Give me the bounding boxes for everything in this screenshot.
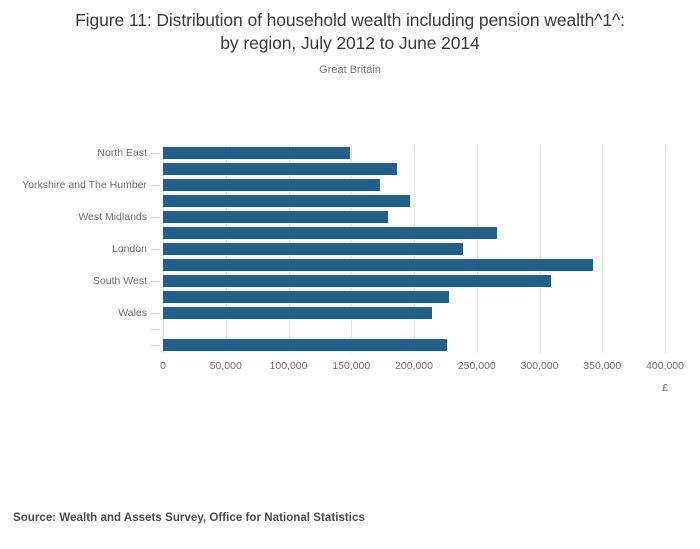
x-axis-tick-label: 200,000 bbox=[395, 361, 433, 372]
y-tick-mark bbox=[151, 185, 160, 186]
y-tick-row: North East bbox=[0, 145, 163, 161]
bar-row bbox=[163, 145, 665, 161]
bar-row bbox=[163, 209, 665, 225]
y-tick-row: Wales bbox=[0, 305, 163, 321]
y-tick-row bbox=[0, 161, 163, 177]
y-tick-mark bbox=[151, 297, 160, 298]
y-axis-label: West Midlands bbox=[78, 212, 151, 223]
bar[interactable] bbox=[163, 243, 463, 255]
bar-row bbox=[163, 305, 665, 321]
gridline bbox=[665, 145, 666, 353]
x-axis-tick-label: 300,000 bbox=[521, 361, 559, 372]
bar[interactable] bbox=[163, 179, 380, 191]
bar-row bbox=[163, 161, 665, 177]
bar[interactable] bbox=[163, 339, 447, 351]
y-axis-label: Wales bbox=[118, 308, 151, 319]
x-axis-tick-label: 100,000 bbox=[270, 361, 308, 372]
bar-row bbox=[163, 177, 665, 193]
y-tick-mark bbox=[151, 233, 160, 234]
bar-row bbox=[163, 193, 665, 209]
bar-row bbox=[163, 257, 665, 273]
bar-row bbox=[163, 289, 665, 305]
y-tick-row bbox=[0, 193, 163, 209]
x-axis-tick-label: 150,000 bbox=[332, 361, 370, 372]
y-tick-row: West Midlands bbox=[0, 209, 163, 225]
y-tick-row bbox=[0, 321, 163, 337]
bar[interactable] bbox=[163, 163, 397, 175]
y-tick-row bbox=[0, 257, 163, 273]
bar[interactable] bbox=[163, 291, 449, 303]
bar[interactable] bbox=[163, 307, 432, 319]
y-axis-label: North East bbox=[97, 148, 151, 159]
x-axis-tick-label: 350,000 bbox=[583, 361, 621, 372]
y-axis-label: Yorkshire and The Humber bbox=[22, 180, 151, 191]
y-tick-row: South West bbox=[0, 273, 163, 289]
x-axis-title: £ bbox=[662, 383, 668, 394]
y-tick-mark bbox=[151, 265, 160, 266]
y-tick-mark bbox=[151, 153, 160, 154]
bar[interactable] bbox=[163, 211, 388, 223]
x-axis-tick-label: 250,000 bbox=[458, 361, 496, 372]
bar[interactable] bbox=[163, 259, 593, 271]
source-note: Source: Wealth and Assets Survey, Office… bbox=[13, 512, 365, 524]
y-tick-mark bbox=[151, 329, 160, 330]
y-tick-row: London bbox=[0, 241, 163, 257]
bar-row bbox=[163, 241, 665, 257]
y-tick-row bbox=[0, 337, 163, 353]
y-tick-mark bbox=[151, 281, 160, 282]
bar[interactable] bbox=[163, 195, 410, 207]
y-tick-row bbox=[0, 289, 163, 305]
y-tick-row: Yorkshire and The Humber bbox=[0, 177, 163, 193]
y-tick-mark bbox=[151, 345, 160, 346]
x-axis-tick-label: 0 bbox=[160, 361, 166, 372]
y-tick-mark bbox=[151, 313, 160, 314]
bar[interactable] bbox=[163, 275, 551, 287]
bar-row bbox=[163, 321, 665, 337]
bar[interactable] bbox=[163, 227, 497, 239]
plot-area bbox=[163, 145, 665, 353]
x-axis-tick-label: 50,000 bbox=[210, 361, 242, 372]
x-axis-tick-label: 400,000 bbox=[646, 361, 684, 372]
bar-row bbox=[163, 273, 665, 289]
x-axis: 050,000100,000150,000200,000250,000300,0… bbox=[163, 353, 665, 393]
y-tick-mark bbox=[151, 201, 160, 202]
y-axis-label: South West bbox=[93, 276, 151, 287]
bar-row bbox=[163, 225, 665, 241]
y-axis: North EastYorkshire and The HumberWest M… bbox=[0, 145, 163, 353]
y-axis-label: London bbox=[112, 244, 151, 255]
chart-container: North EastYorkshire and The HumberWest M… bbox=[0, 0, 700, 440]
y-tick-mark bbox=[151, 249, 160, 250]
bar[interactable] bbox=[163, 147, 350, 159]
y-tick-mark bbox=[151, 217, 160, 218]
y-tick-mark bbox=[151, 169, 160, 170]
y-tick-row bbox=[0, 225, 163, 241]
bar-row bbox=[163, 337, 665, 353]
